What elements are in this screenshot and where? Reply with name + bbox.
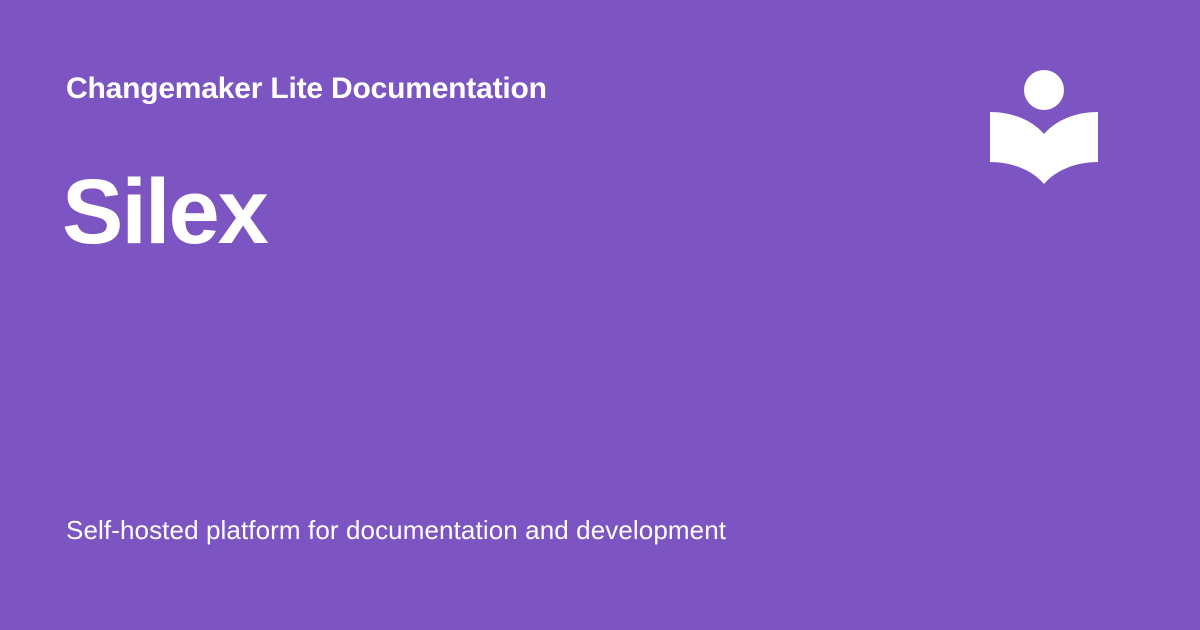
site-title: Changemaker Lite Documentation bbox=[66, 70, 547, 108]
documentation-social-card: Changemaker Lite Documentation Silex Sel… bbox=[0, 0, 1200, 630]
open-book-reader-icon bbox=[986, 62, 1102, 190]
tagline: Self-hosted platform for documentation a… bbox=[66, 513, 726, 547]
page-title: Silex bbox=[62, 160, 267, 264]
